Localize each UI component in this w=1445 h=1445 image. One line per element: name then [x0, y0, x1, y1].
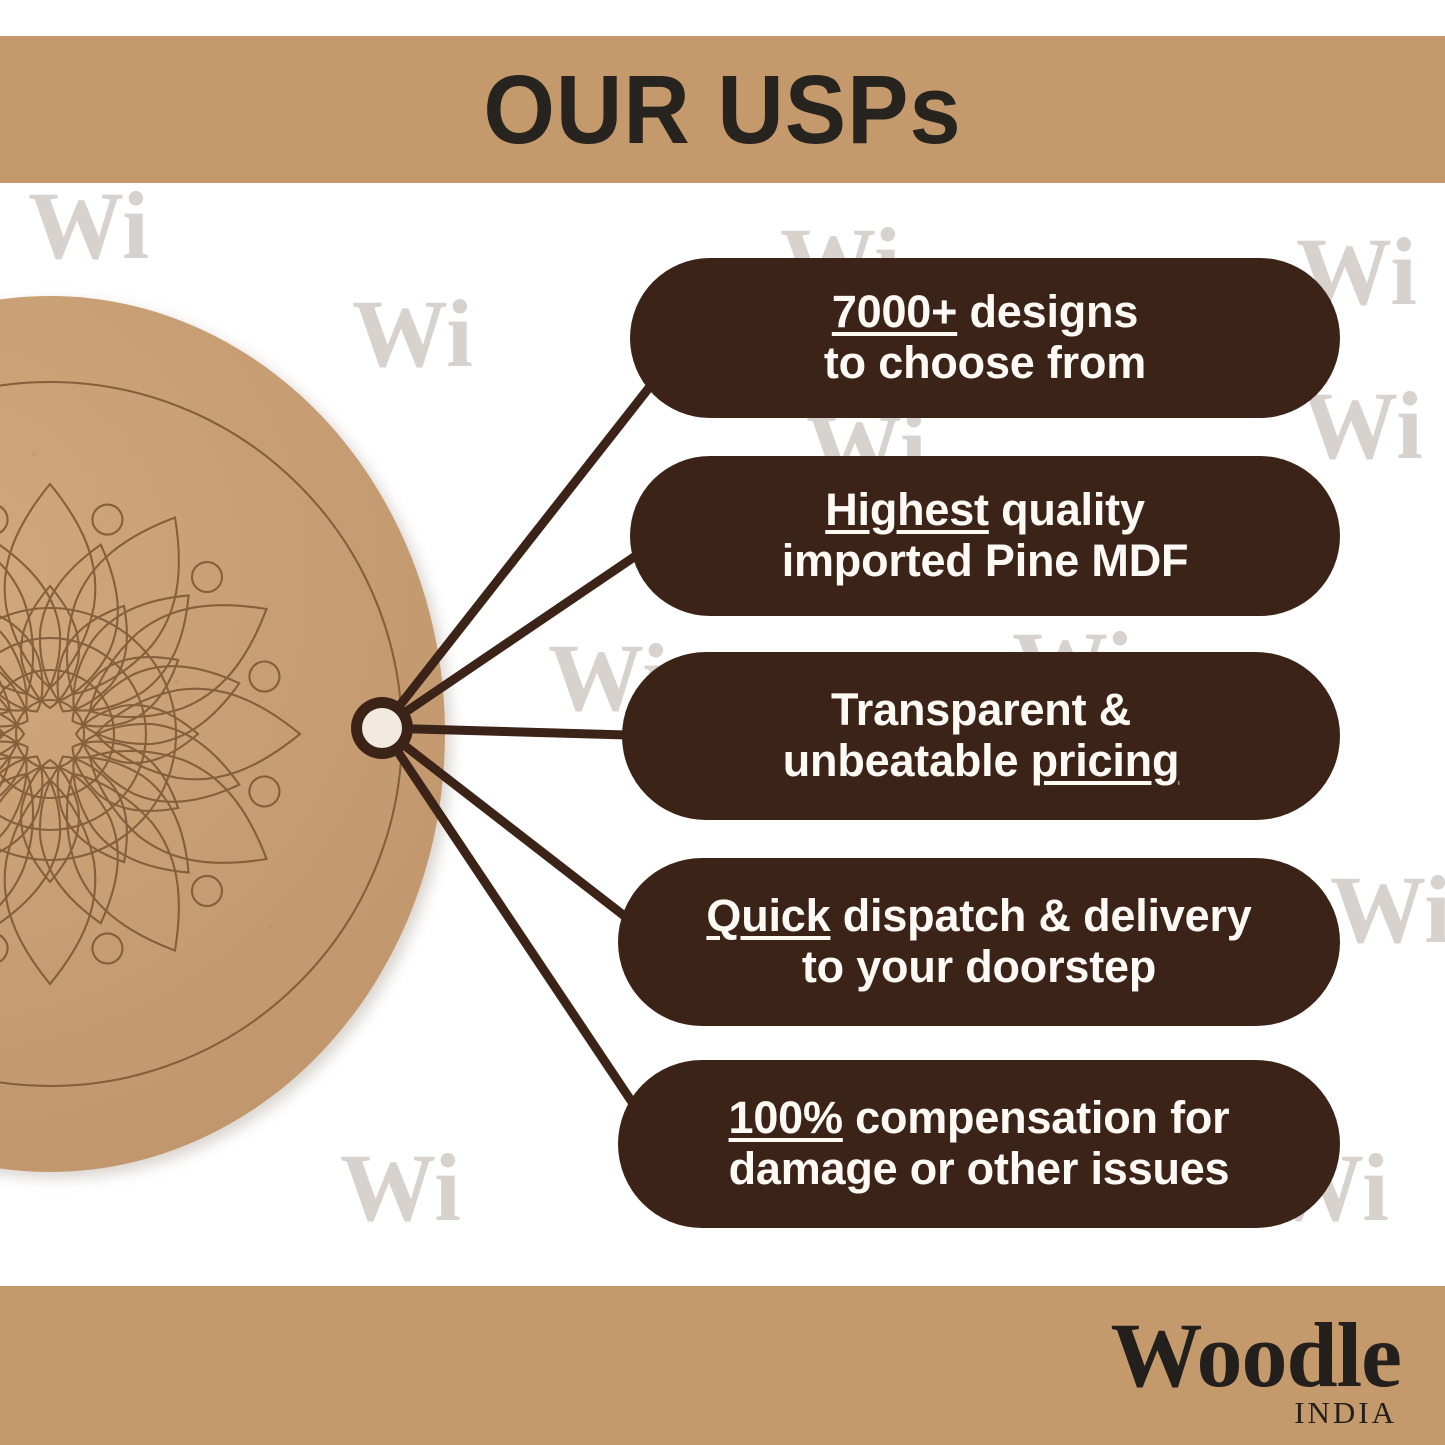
usp-span: compensation for: [843, 1092, 1230, 1143]
usp-span: Transparent &: [831, 684, 1131, 735]
usp-text-line: 100% compensation for: [729, 1093, 1230, 1144]
usp-text-line: Transparent &: [783, 685, 1179, 736]
usp-compensation[interactable]: 100% compensation fordamage or other iss…: [618, 1060, 1340, 1228]
usp-span: damage or other issues: [729, 1143, 1230, 1194]
usp-designs[interactable]: 7000+ designsto choose from: [630, 258, 1340, 418]
footer-banner: Woodle INDIA: [0, 1286, 1445, 1445]
usp-span: designs: [957, 286, 1138, 337]
usp-span: unbeatable: [783, 735, 1031, 786]
infographic-canvas: WiWiWiWiWiWiWiWiWiWiWi: [0, 0, 1445, 1445]
watermark-wi: Wi: [1330, 862, 1445, 958]
usp-highlight: pricing: [1031, 735, 1180, 786]
usp-span: to choose from: [824, 337, 1146, 388]
page-title: OUR USPs: [483, 61, 961, 159]
usp-span: to your doorstep: [802, 941, 1156, 992]
usp-span: dispatch & delivery: [830, 890, 1251, 941]
usp-text: 100% compensation fordamage or other iss…: [729, 1093, 1230, 1195]
usp-text-line: imported Pine MDF: [782, 536, 1189, 587]
usp-highlight: 100%: [729, 1092, 843, 1143]
watermark-wi: Wi: [1302, 378, 1423, 474]
usp-highlight: 7000+: [832, 286, 957, 337]
mdf-mandala-disc: [0, 296, 445, 1172]
usp-pricing[interactable]: Transparent &unbeatable pricing: [622, 652, 1340, 820]
watermark-wi: Wi: [28, 178, 149, 274]
usp-text-line: unbeatable pricing: [783, 736, 1179, 787]
brand-logo: Woodle INDIA: [1111, 1312, 1401, 1431]
usp-text-line: damage or other issues: [729, 1144, 1230, 1195]
header-banner: OUR USPs: [0, 36, 1445, 183]
mandala-engraving: [0, 296, 445, 1172]
usp-text-line: Quick dispatch & delivery: [706, 891, 1251, 942]
usp-text: Highest qualityimported Pine MDF: [782, 485, 1189, 587]
usp-text: Quick dispatch & deliveryto your doorste…: [706, 891, 1251, 993]
usp-highlight: Highest: [825, 484, 989, 535]
usp-dispatch[interactable]: Quick dispatch & deliveryto your doorste…: [618, 858, 1340, 1026]
usp-quality[interactable]: Highest qualityimported Pine MDF: [630, 456, 1340, 616]
usp-highlight: Quick: [706, 890, 830, 941]
usp-text-line: 7000+ designs: [824, 287, 1146, 338]
usp-text-line: to choose from: [824, 338, 1146, 389]
usp-span: quality: [989, 484, 1145, 535]
brand-wordmark: Woodle: [1111, 1312, 1401, 1399]
usp-text: Transparent &unbeatable pricing: [783, 685, 1179, 787]
usp-text-line: to your doorstep: [706, 942, 1251, 993]
usp-text-line: Highest quality: [782, 485, 1189, 536]
usp-span: imported Pine MDF: [782, 535, 1189, 586]
usp-text: 7000+ designsto choose from: [824, 287, 1146, 389]
